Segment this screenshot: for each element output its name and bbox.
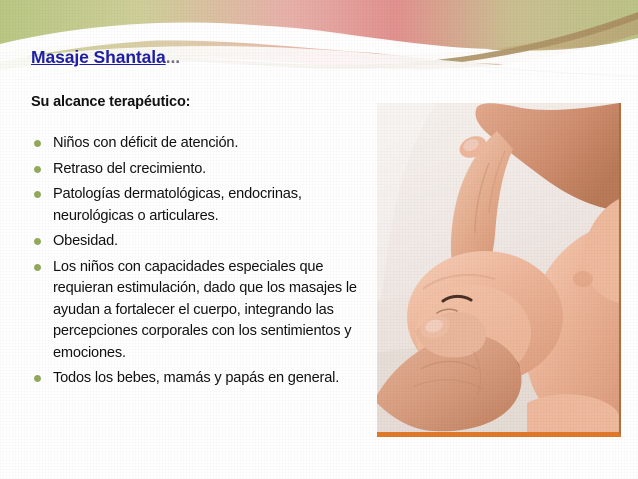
page-title-ellipsis: ... xyxy=(166,47,180,67)
list-item-text: Retraso del crecimiento. xyxy=(53,161,206,177)
presentation-slide: Masaje Shantala... Su alcance terapéutic… xyxy=(0,0,638,479)
list-item: Todos los bebes, mamás y papás en genera… xyxy=(31,368,361,390)
page-title: Masaje Shantala... xyxy=(31,47,180,68)
list-item-text: Todos los bebes, mamás y papás en genera… xyxy=(53,370,339,386)
baby-massage-photo xyxy=(377,103,621,437)
section-subtitle: Su alcance terapéutico: xyxy=(31,94,190,110)
list-item: Obesidad. xyxy=(31,231,361,253)
decorative-banner xyxy=(0,0,638,84)
bullet-dot-icon xyxy=(34,238,41,245)
list-item: Niños con déficit de atención. xyxy=(31,133,361,155)
page-title-text: Masaje Shantala xyxy=(31,47,166,67)
bullet-dot-icon xyxy=(34,166,41,173)
bullet-dot-icon xyxy=(34,264,41,271)
bullet-dot-icon xyxy=(34,375,41,382)
bullet-list: Niños con déficit de atención. Retraso d… xyxy=(31,133,361,394)
list-item-text: Obesidad. xyxy=(53,233,118,249)
list-item-text: Niños con déficit de atención. xyxy=(53,135,238,151)
list-item-text: Los niños con capacidades especiales que… xyxy=(53,259,357,361)
bullet-dot-icon xyxy=(34,140,41,147)
list-item: Los niños con capacidades especiales que… xyxy=(31,257,361,365)
list-item: Patologías dermatológicas, endocrinas, n… xyxy=(31,184,361,227)
list-item: Retraso del crecimiento. xyxy=(31,159,361,181)
bullet-dot-icon xyxy=(34,191,41,198)
list-item-text: Patologías dermatológicas, endocrinas, n… xyxy=(53,186,302,224)
baby-massage-illustration xyxy=(377,103,619,432)
